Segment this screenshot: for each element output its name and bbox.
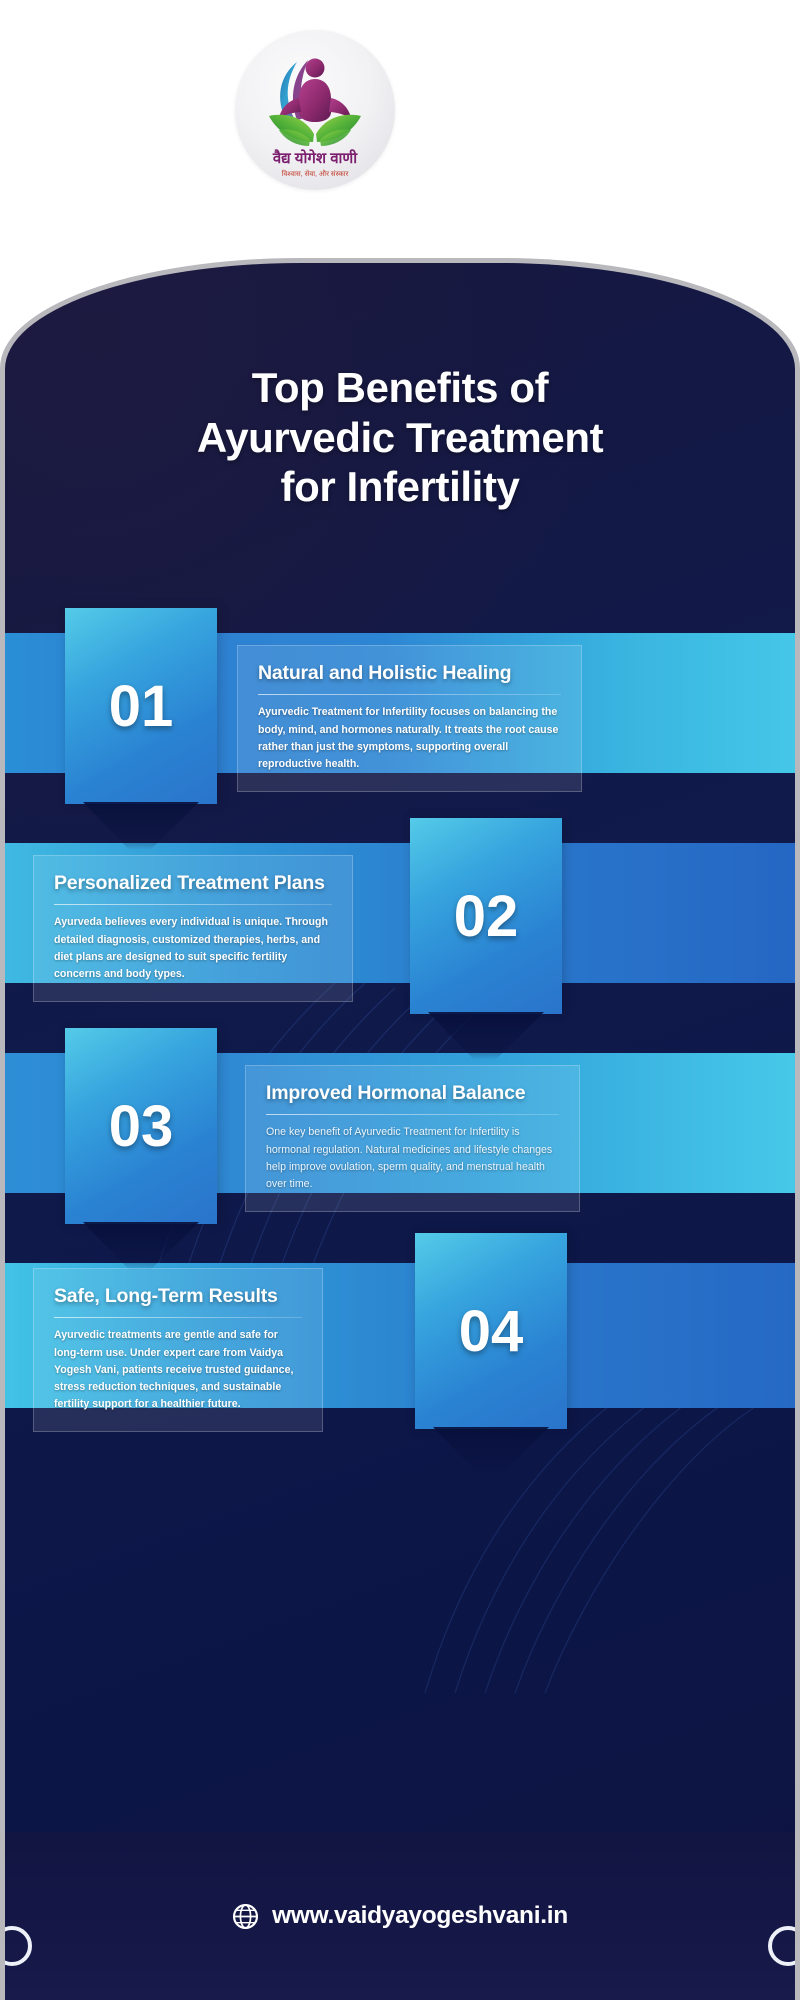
divider — [258, 694, 561, 695]
benefit-heading-04: Safe, Long-Term Results — [54, 1285, 302, 1308]
benefit-body-04: Ayurvedic treatments are gentle and safe… — [54, 1327, 302, 1413]
benefit-number-03: 03 — [65, 1028, 217, 1224]
title-line-1: Top Benefits of — [5, 363, 795, 413]
main-panel-inner: Top Benefits of Ayurvedic Treatment for … — [5, 263, 795, 2000]
benefit-number-label: 04 — [459, 1298, 524, 1365]
logo-brand-text: वैद्य योगेश वाणी — [272, 149, 358, 167]
benefit-number-label: 01 — [109, 673, 174, 740]
benefit-number-04: 04 — [415, 1233, 567, 1429]
main-panel: Top Benefits of Ayurvedic Treatment for … — [0, 258, 800, 2000]
benefit-heading-02: Personalized Treatment Plans — [54, 872, 332, 895]
benefit-number-01: 01 — [65, 608, 217, 804]
divider — [266, 1114, 559, 1115]
benefit-number-label: 03 — [109, 1093, 174, 1160]
page-title: Top Benefits of Ayurvedic Treatment for … — [5, 363, 795, 512]
brand-logo: वैद्य योगेश वाणी विश्वास, सेवा, और संस्क… — [235, 30, 395, 190]
footer-bar: www.vaidyayogeshvani.in — [5, 1832, 795, 2000]
benefit-heading-01: Natural and Holistic Healing — [258, 662, 561, 685]
website-url[interactable]: www.vaidyayogeshvani.in — [272, 1902, 568, 1930]
benefit-number-label: 02 — [454, 883, 519, 950]
divider — [54, 904, 332, 905]
benefit-card-02: Personalized Treatment Plans Ayurveda be… — [33, 855, 353, 1002]
divider — [54, 1317, 302, 1318]
title-line-2: Ayurvedic Treatment — [5, 413, 795, 463]
benefit-card-04: Safe, Long-Term Results Ayurvedic treatm… — [33, 1268, 323, 1432]
benefit-number-02: 02 — [410, 818, 562, 1014]
benefit-heading-03: Improved Hormonal Balance — [266, 1082, 559, 1105]
lotus-yoga-leaf-logo: वैद्य योगेश वाणी विश्वास, सेवा, और संस्क… — [235, 30, 395, 190]
benefit-card-03: Improved Hormonal Balance One key benefi… — [245, 1065, 580, 1212]
logo-tagline-text: विश्वास, सेवा, और संस्कार — [282, 169, 349, 178]
title-line-3: for Infertility — [5, 462, 795, 512]
benefit-body-03: One key benefit of Ayurvedic Treatment f… — [266, 1124, 559, 1193]
globe-icon — [232, 1903, 259, 1930]
logo-area: वैद्य योगेश वाणी विश्वास, सेवा, और संस्क… — [0, 0, 800, 258]
benefit-body-02: Ayurveda believes every individual is un… — [54, 914, 332, 983]
benefit-card-01: Natural and Holistic Healing Ayurvedic T… — [237, 645, 582, 792]
benefit-body-01: Ayurvedic Treatment for Infertility focu… — [258, 704, 561, 773]
